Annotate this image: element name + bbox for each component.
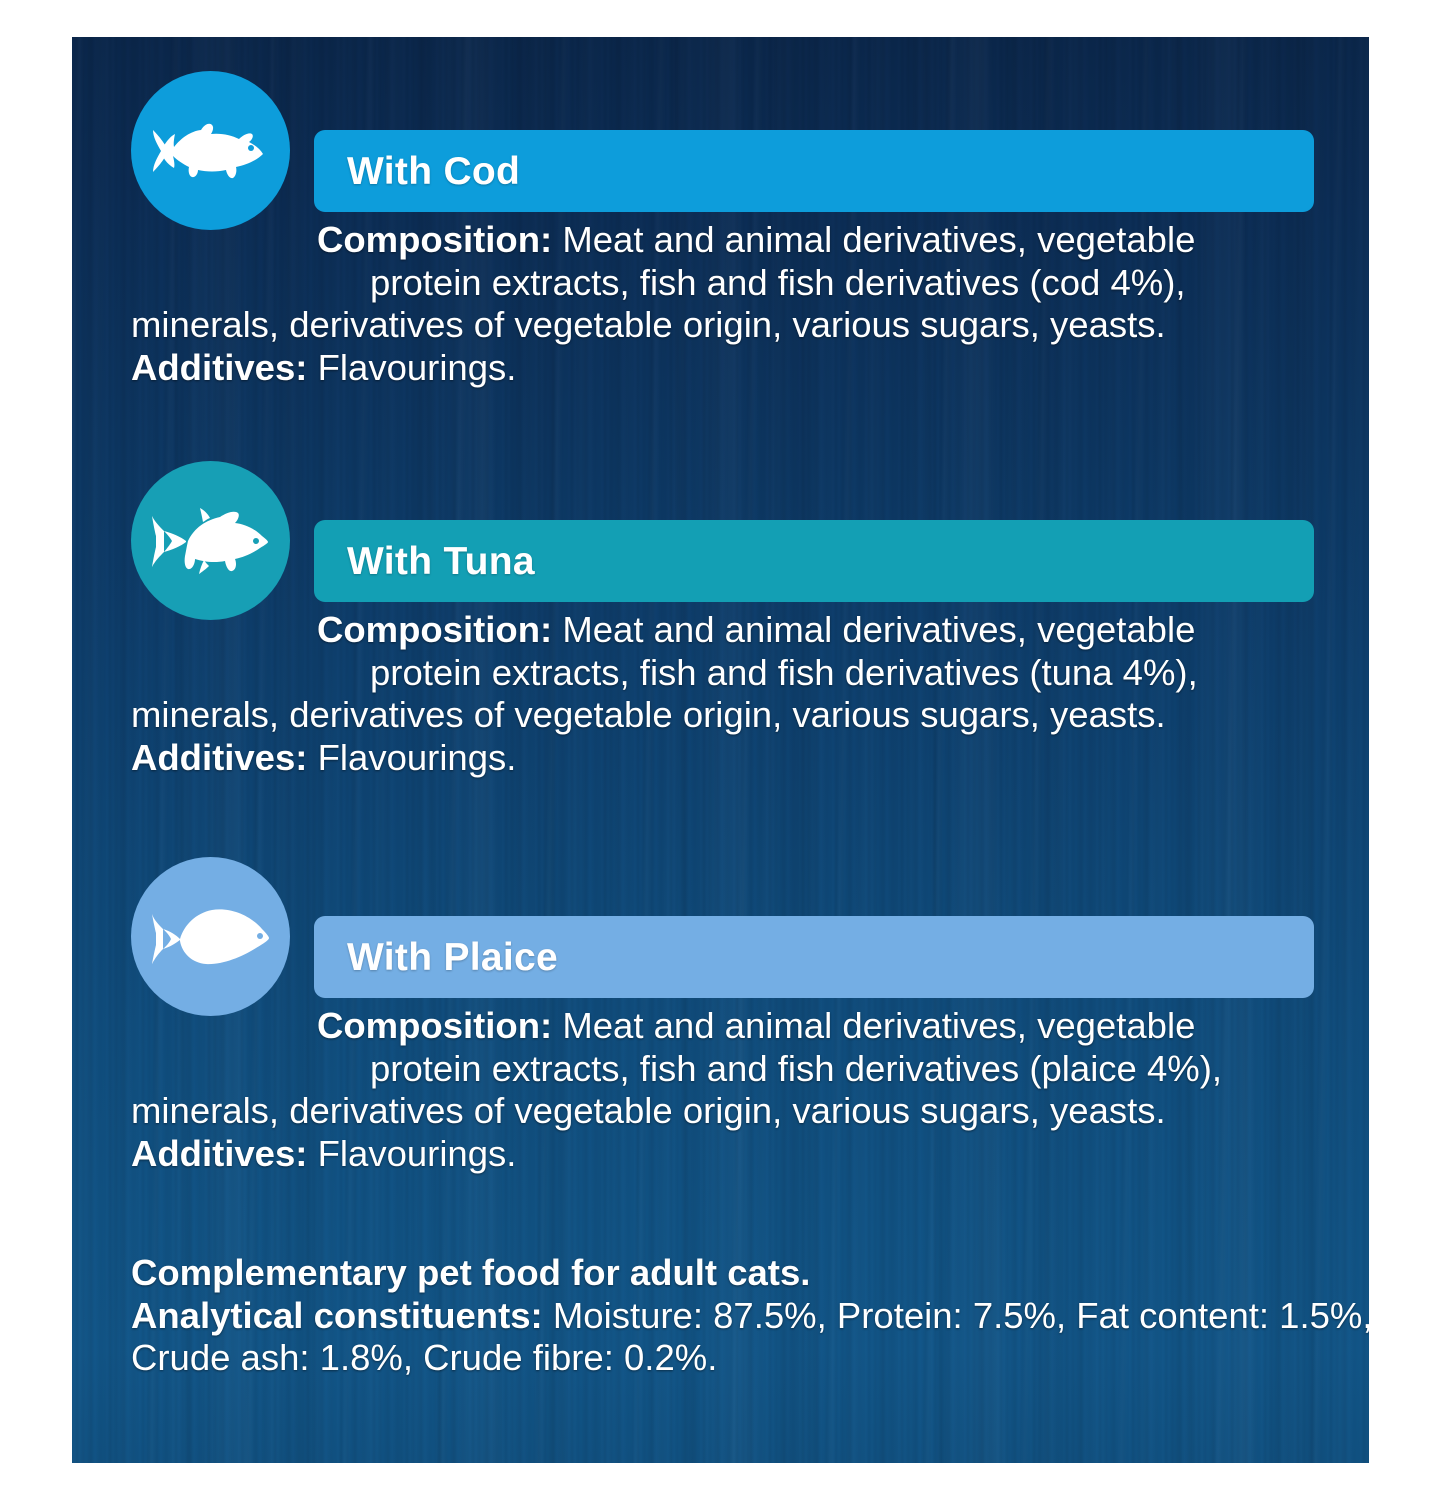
additives-value-tuna: Flavourings. bbox=[318, 737, 517, 778]
analytical-constituents-line1: Moisture: 87.5%, Protein: 7.5%, Fat cont… bbox=[553, 1295, 1369, 1336]
analytical-constituents-label: Analytical constituents: bbox=[131, 1295, 543, 1336]
flavour-title-tuna: With Tuna bbox=[314, 542, 535, 581]
composition-line1-plaice: Meat and animal derivatives, vegetable bbox=[562, 1005, 1195, 1046]
flavour-composition-plaice: Composition: Meat and animal derivatives… bbox=[72, 1005, 1369, 1176]
pet-food-statement: Complementary pet food for adult cats. bbox=[131, 1252, 810, 1293]
additives-label-tuna: Additives: bbox=[131, 737, 307, 778]
composition-line1-cod: Meat and animal derivatives, vegetable bbox=[562, 219, 1195, 260]
composition-line1-tuna: Meat and animal derivatives, vegetable bbox=[562, 609, 1195, 650]
composition-line3-plaice: minerals, derivatives of vegetable origi… bbox=[131, 1090, 1166, 1131]
flavour-title-bar-tuna[interactable]: With Tuna bbox=[314, 520, 1314, 602]
composition-line2-tuna: protein extracts, fish and fish derivati… bbox=[370, 652, 1198, 693]
composition-line3-tuna: minerals, derivatives of vegetable origi… bbox=[131, 694, 1166, 735]
composition-line2-plaice: protein extracts, fish and fish derivati… bbox=[370, 1048, 1222, 1089]
plaice-fish-icon bbox=[131, 857, 290, 1016]
additives-label-plaice: Additives: bbox=[131, 1133, 307, 1174]
flavour-title-plaice: With Plaice bbox=[314, 938, 558, 977]
flavour-title-cod: With Cod bbox=[314, 152, 520, 191]
additives-label-cod: Additives: bbox=[131, 347, 307, 388]
composition-label-plaice: Composition: bbox=[317, 1005, 552, 1046]
tuna-fish-icon bbox=[131, 461, 290, 620]
flavour-composition-tuna: Composition: Meat and animal derivatives… bbox=[72, 609, 1369, 780]
flavour-title-bar-cod[interactable]: With Cod bbox=[314, 130, 1314, 212]
composition-line2-cod: protein extracts, fish and fish derivati… bbox=[370, 262, 1186, 303]
additives-value-plaice: Flavourings. bbox=[318, 1133, 517, 1174]
composition-label-tuna: Composition: bbox=[317, 609, 552, 650]
composition-label-cod: Composition: bbox=[317, 219, 552, 260]
footer-nutrition-block: Complementary pet food for adult cats. A… bbox=[72, 1252, 1369, 1380]
flavour-composition-cod: Composition: Meat and animal derivatives… bbox=[72, 219, 1369, 390]
composition-line3-cod: minerals, derivatives of vegetable origi… bbox=[131, 304, 1166, 345]
cod-fish-icon bbox=[131, 71, 290, 230]
additives-value-cod: Flavourings. bbox=[318, 347, 517, 388]
flavour-title-bar-plaice[interactable]: With Plaice bbox=[314, 916, 1314, 998]
label-content: With Cod Composition: Meat and animal de… bbox=[72, 37, 1369, 1463]
product-label-panel: With Cod Composition: Meat and animal de… bbox=[72, 37, 1369, 1463]
analytical-constituents-line2: Crude ash: 1.8%, Crude fibre: 0.2%. bbox=[131, 1337, 717, 1378]
